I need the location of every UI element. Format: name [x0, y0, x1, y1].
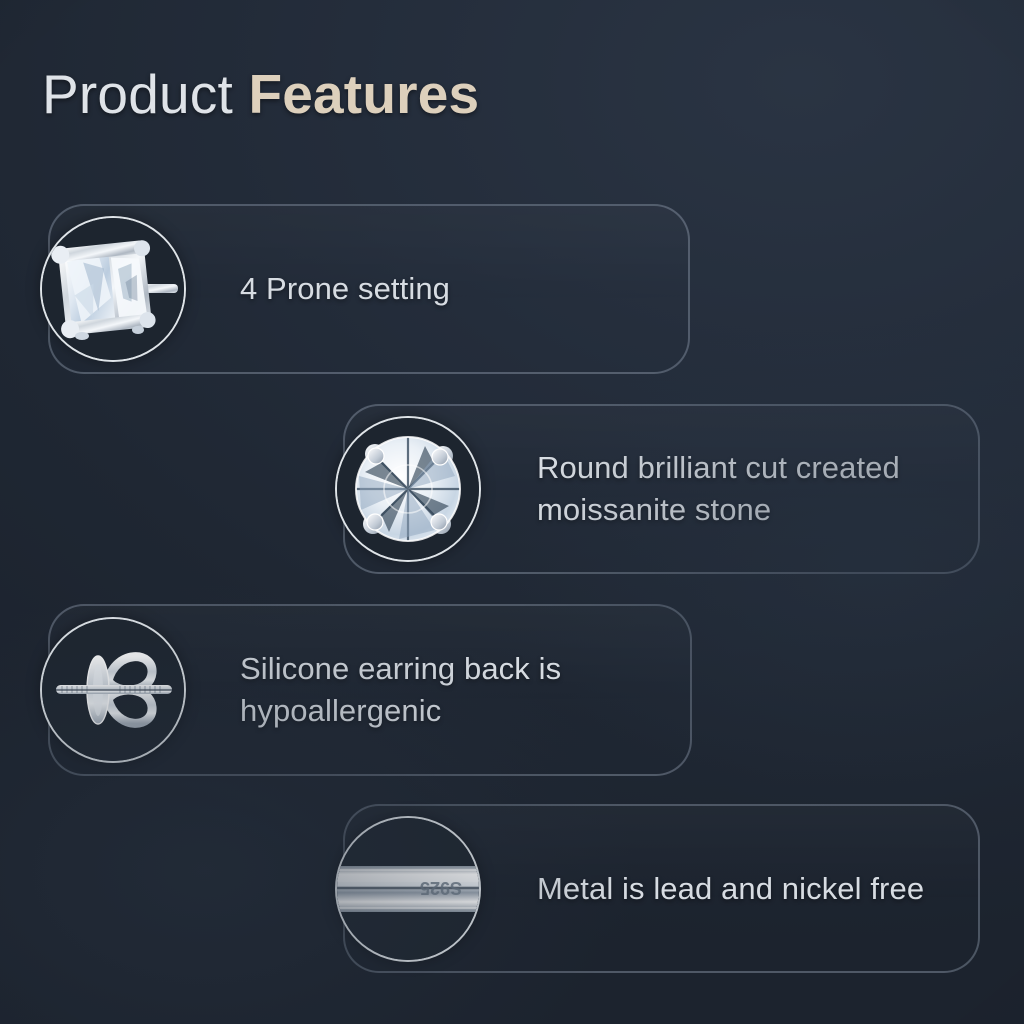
feature-label-1: 4 Prone setting: [240, 268, 666, 310]
feature-card-3[interactable]: Silicone earring back is hypoallergenic: [48, 604, 692, 776]
feature-label-4: Metal is lead and nickel free: [537, 868, 956, 910]
feature-label-2: Round brilliant cut created moissanite s…: [537, 447, 956, 531]
prong-set-stud-earring-side-view-icon: [40, 216, 186, 362]
feature-card-1[interactable]: 4 Prone setting: [48, 204, 690, 374]
round-brilliant-diamond-top-view-icon: [335, 416, 481, 562]
page-title: Product Features: [42, 62, 479, 126]
product-features-panel: Product Features: [0, 0, 1024, 1024]
feature-card-2[interactable]: Round brilliant cut created moissanite s…: [343, 404, 980, 574]
feature-card-4[interactable]: S925 Metal is lead and nickel free: [343, 804, 980, 973]
silver-post-bar-icon: S925: [335, 816, 481, 962]
page-title-accent: Features: [248, 63, 479, 125]
page-title-light: Product: [42, 63, 248, 125]
butterfly-earring-back-icon: [40, 617, 186, 763]
feature-label-3: Silicone earring back is hypoallergenic: [240, 648, 668, 732]
